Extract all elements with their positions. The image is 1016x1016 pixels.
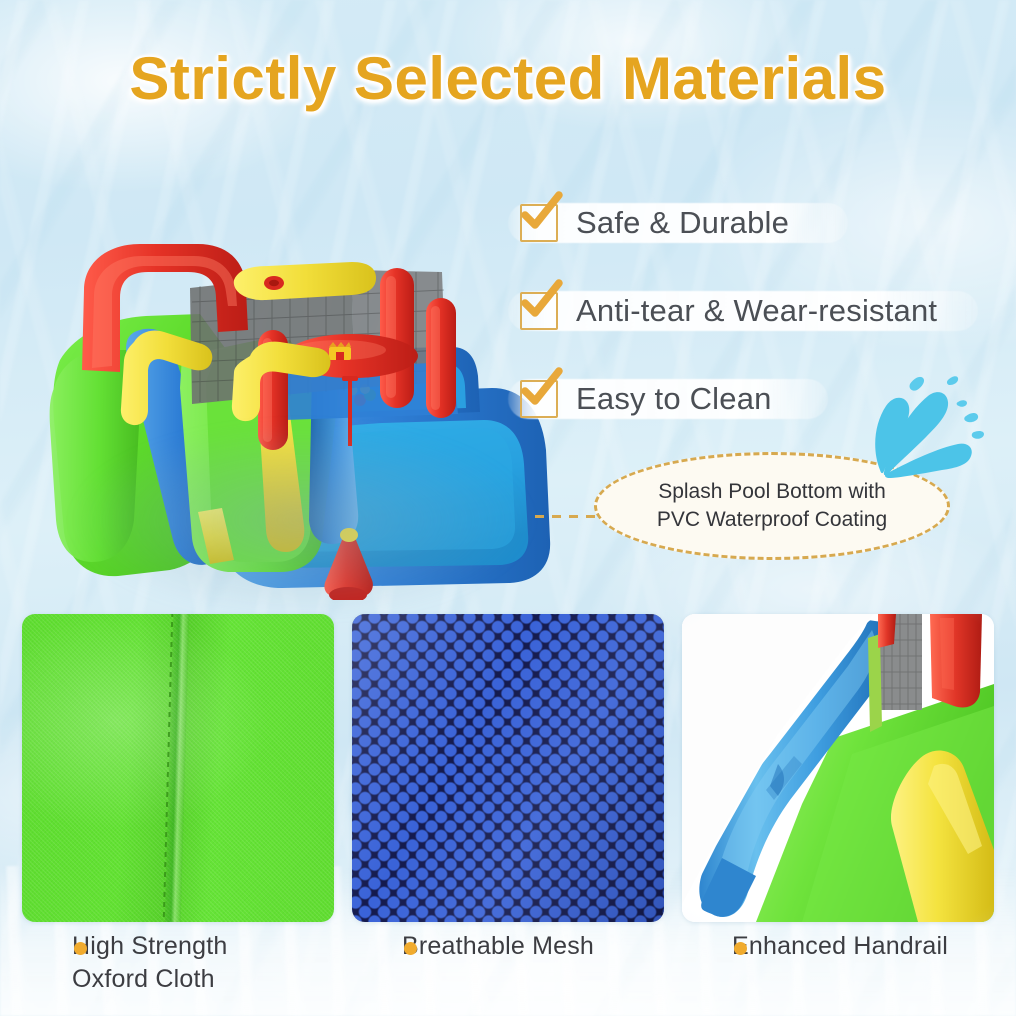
- product-logo: [329, 342, 351, 360]
- checkbox-checked-icon: [520, 204, 558, 242]
- oxford-cloth-swatch: [22, 614, 334, 922]
- bullet-dot-icon: [404, 942, 417, 955]
- caption-line-1: High Strength: [72, 930, 227, 963]
- feature-item: Safe & Durable: [508, 200, 986, 246]
- checkbox-checked-icon: [520, 380, 558, 418]
- caption-text: Breathable Mesh: [402, 930, 594, 963]
- caption-breathable-mesh: Breathable Mesh: [352, 930, 664, 1010]
- enhanced-handrail-photo: [682, 614, 994, 922]
- handrail-vignette: [682, 614, 994, 922]
- caption-line-1: Breathable Mesh: [402, 930, 594, 963]
- bullet-dot-icon: [74, 942, 87, 955]
- feature-label: Anti-tear & Wear-resistant: [576, 293, 937, 329]
- bullet-dot-icon: [734, 942, 747, 955]
- panel-captions: High Strength Oxford Cloth Breathable Me…: [22, 930, 994, 1010]
- product-ground-shadow: [62, 420, 542, 620]
- material-panels: [22, 614, 994, 922]
- feature-item: Anti-tear & Wear-resistant: [508, 288, 986, 334]
- callout-line-1: Splash Pool Bottom with: [658, 478, 886, 506]
- callout-leader-line: [535, 515, 601, 518]
- checkbox-checked-icon: [520, 292, 558, 330]
- caption-enhanced-handrail: Enhanced Handrail: [682, 930, 994, 1010]
- caption-text: Enhanced Handrail: [732, 930, 948, 963]
- breathable-mesh-swatch: [352, 614, 664, 922]
- feature-label: Safe & Durable: [576, 205, 789, 241]
- callout-bubble: Splash Pool Bottom with PVC Waterproof C…: [594, 452, 950, 560]
- caption-oxford-cloth: High Strength Oxford Cloth: [22, 930, 334, 1010]
- caption-text: High Strength Oxford Cloth: [72, 930, 227, 995]
- mesh-highlight: [352, 614, 664, 922]
- page-title: Strictly Selected Materials: [0, 44, 1016, 113]
- caption-line-2: Oxford Cloth: [72, 963, 227, 996]
- infographic-page: Strictly Selected Materials: [0, 0, 1016, 1016]
- callout-text: Splash Pool Bottom with PVC Waterproof C…: [594, 452, 950, 560]
- feature-label: Easy to Clean: [576, 381, 772, 417]
- caption-line-1: Enhanced Handrail: [732, 930, 948, 963]
- callout-line-2: PVC Waterproof Coating: [657, 506, 887, 534]
- product-photo: [22, 120, 582, 600]
